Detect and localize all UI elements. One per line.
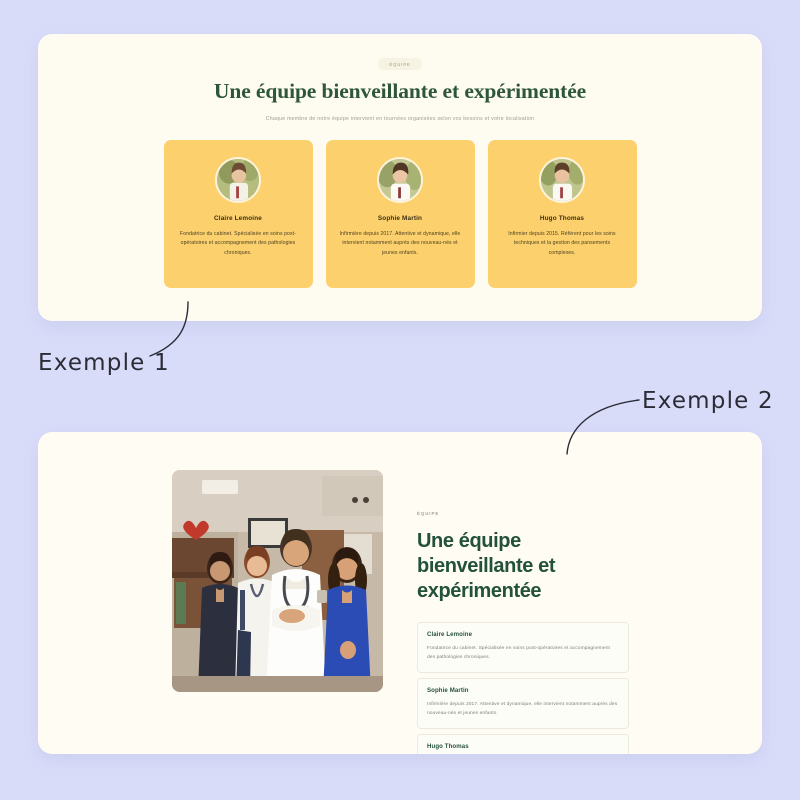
member-name: Sophie Martin (427, 687, 619, 694)
member-card[interactable]: Sophie Martin Infirmière depuis 2017. At… (326, 140, 475, 288)
member-description: Fondatrice du cabinet. Spécialisée en so… (427, 644, 619, 663)
example-two-panel: ÉQUIPE Une équipe bienveillante et expér… (38, 432, 762, 754)
avatar (539, 157, 585, 203)
page-subtitle: Chaque membre de notre équipe intervient… (38, 116, 762, 122)
eyebrow-badge: ÉQUIPE (417, 511, 439, 516)
member-description: Infirmière depuis 2017. Attentive et dyn… (339, 230, 462, 258)
annotation-exemple-2: Exemple 2 (642, 388, 774, 414)
list-item[interactable]: Claire Lemoine Fondatrice du cabinet. Sp… (417, 622, 629, 673)
page-title: Une équipe bienveillante et expérimentée (417, 529, 629, 605)
member-name: Sophie Martin (378, 215, 422, 222)
member-name: Claire Lemoine (214, 215, 262, 222)
member-description: Infirmier depuis 2015. Référent pour les… (501, 230, 624, 258)
example-two-content: ÉQUIPE Une équipe bienveillante et expér… (417, 470, 629, 754)
member-name: Claire Lemoine (427, 631, 619, 638)
arrow-exemple-1-icon (150, 300, 240, 370)
member-description: Infirmière depuis 2017. Attentive et dyn… (427, 700, 619, 719)
member-card[interactable]: Claire Lemoine Fondatrice du cabinet. Sp… (164, 140, 313, 288)
member-name: Hugo Thomas (540, 215, 584, 222)
arrow-exemple-2-icon (565, 398, 655, 458)
member-description: Fondatrice du cabinet. Spécialisée en so… (177, 230, 300, 258)
member-list: Claire Lemoine Fondatrice du cabinet. Sp… (417, 622, 629, 754)
page-title: Une équipe bienveillante et expérimentée (38, 79, 762, 104)
member-name: Hugo Thomas (427, 743, 619, 750)
member-card-list: Claire Lemoine Fondatrice du cabinet. Sp… (38, 140, 762, 288)
example-one-panel: ÉQUIPE Une équipe bienveillante et expér… (38, 34, 762, 321)
eyebrow-badge: ÉQUIPE (378, 58, 422, 70)
avatar (377, 157, 423, 203)
list-item[interactable]: Sophie Martin Infirmière depuis 2017. At… (417, 678, 629, 729)
avatar (215, 157, 261, 203)
list-item[interactable]: Hugo Thomas Infirmier depuis 2015. Référ… (417, 734, 629, 754)
member-card[interactable]: Hugo Thomas Infirmier depuis 2015. Référ… (488, 140, 637, 288)
team-photo (172, 470, 383, 692)
